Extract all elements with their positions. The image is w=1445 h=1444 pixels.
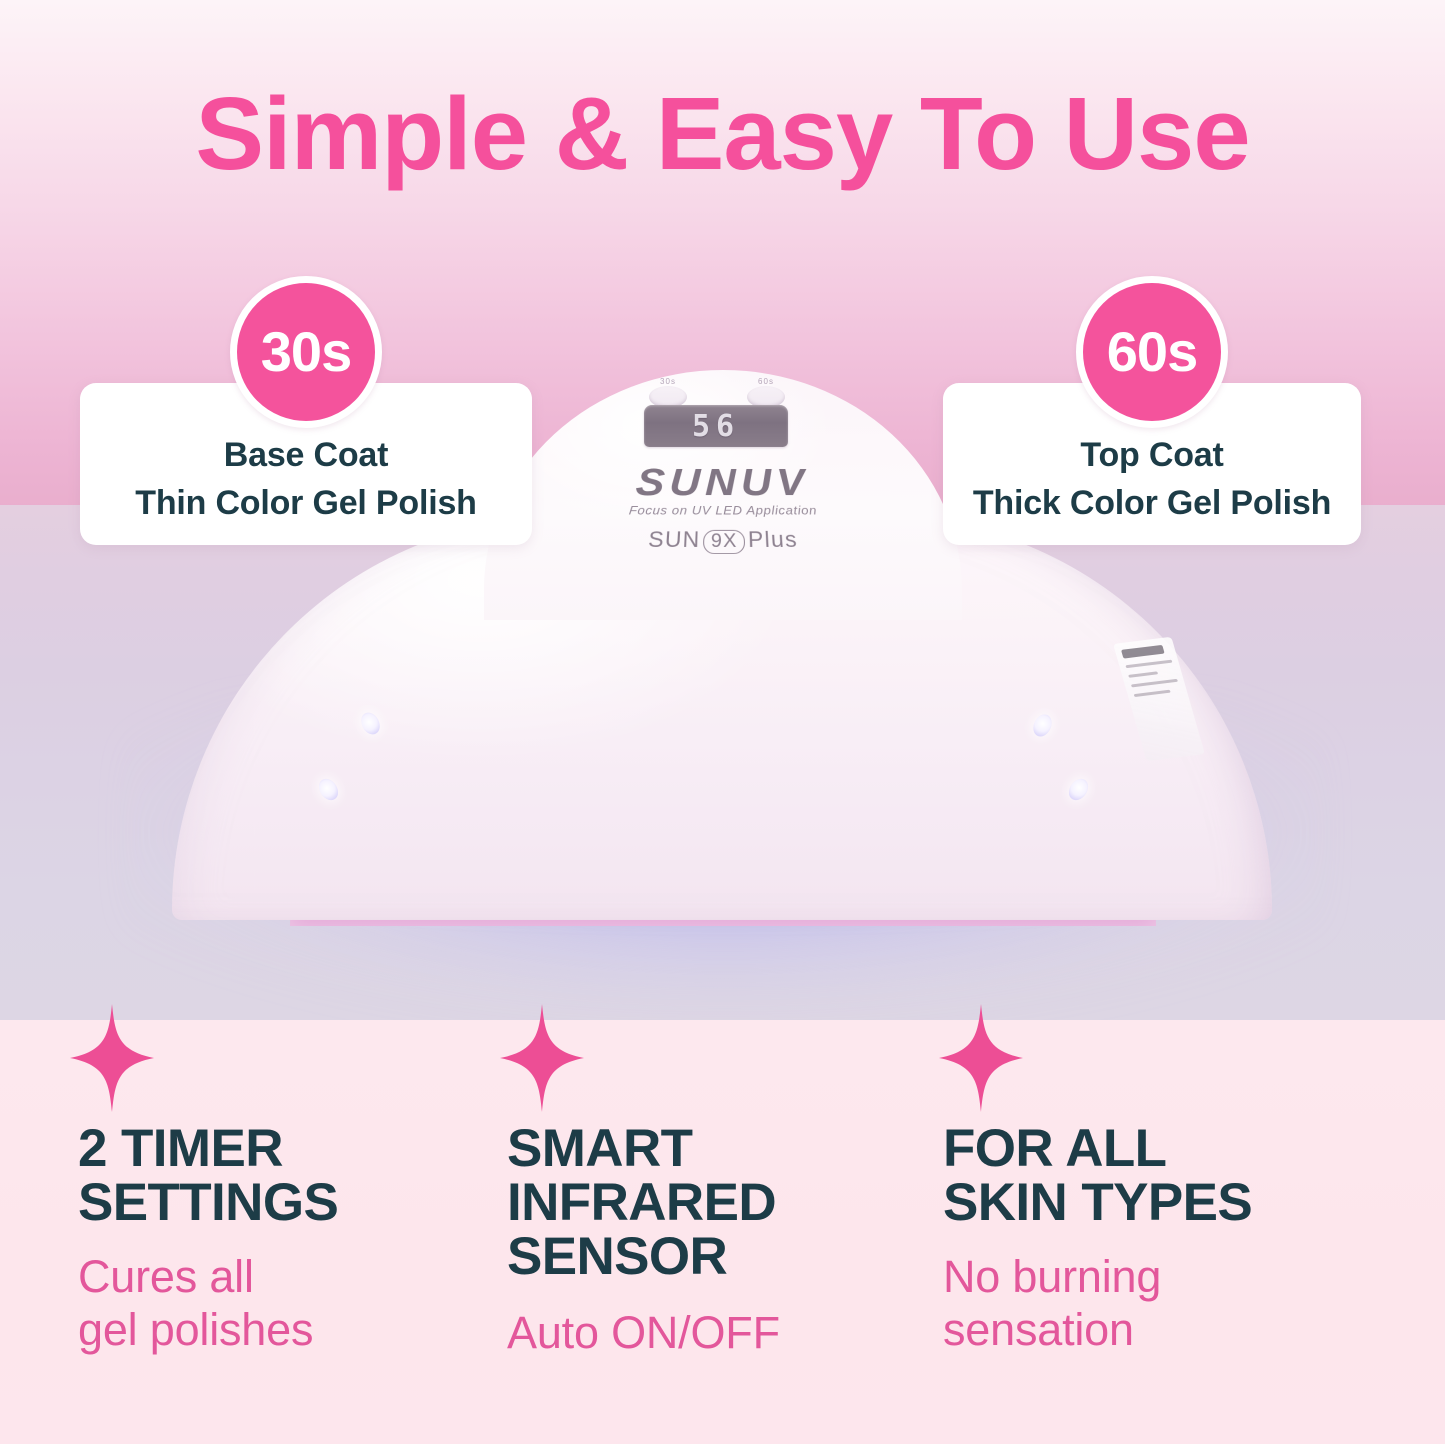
badge-60s: 60s <box>1076 276 1228 428</box>
feature-all-skin-types: FOR ALL SKIN TYPES No burning sensation <box>905 1004 1445 1444</box>
badge-60s-label: 60s <box>1107 324 1197 380</box>
product-feature-poster: Simple & Easy To Use 30s 60s 56 SUNUV Fo… <box>0 0 1445 1444</box>
feature-timer-settings-title: 2 TIMER SETTINGS <box>0 1122 540 1230</box>
sparkle-star-icon <box>70 1004 154 1112</box>
feature-timer-settings-subtitle: Cures all gel polishes <box>0 1250 540 1356</box>
device-branding: SUNUV Focus on UV LED Application SUN9XP… <box>470 464 977 554</box>
feature-infrared-sensor-title: SMART INFRARED SENSOR <box>462 1122 950 1284</box>
feature-all-skin-types-subtitle: No burning sensation <box>905 1250 1445 1356</box>
page-title: Simple & Easy To Use <box>0 78 1445 189</box>
feature-all-skin-types-title: FOR ALL SKIN TYPES <box>905 1122 1445 1230</box>
callout-top-coat-line1: Top Coat <box>959 435 1345 475</box>
callout-base-coat-line2: Thin Color Gel Polish <box>96 483 516 523</box>
feature-timer-settings: 2 TIMER SETTINGS Cures all gel polishes <box>0 1004 462 1444</box>
feature-infrared-sensor: SMART INFRARED SENSOR Auto ON/OFF <box>462 1004 905 1444</box>
feature-infrared-sensor-subtitle: Auto ON/OFF <box>462 1306 950 1359</box>
lamp-timer-button-60s-label: 60s <box>747 377 785 386</box>
model-suffix: Plus <box>748 527 799 552</box>
device-model: SUN9XPlus <box>470 527 977 554</box>
model-badge: 9X <box>703 530 745 554</box>
brand-name: SUNUV <box>485 464 961 502</box>
feature-row: 2 TIMER SETTINGS Cures all gel polishes … <box>0 1004 1445 1444</box>
sparkle-star-icon <box>500 1004 584 1112</box>
sparkle-star-icon <box>939 1004 1023 1112</box>
lamp-timer-button-30s-label: 30s <box>649 377 687 386</box>
model-prefix: SUN <box>647 527 701 552</box>
badge-30s: 30s <box>230 276 382 428</box>
brand-tagline: Focus on UV LED Application <box>481 503 966 517</box>
callout-top-coat-line2: Thick Color Gel Polish <box>959 483 1345 523</box>
badge-30s-label: 30s <box>261 324 351 380</box>
lamp-lcd-display: 56 <box>644 405 788 447</box>
lcd-digits: 56 <box>692 409 740 444</box>
callout-base-coat-line1: Base Coat <box>96 435 516 475</box>
